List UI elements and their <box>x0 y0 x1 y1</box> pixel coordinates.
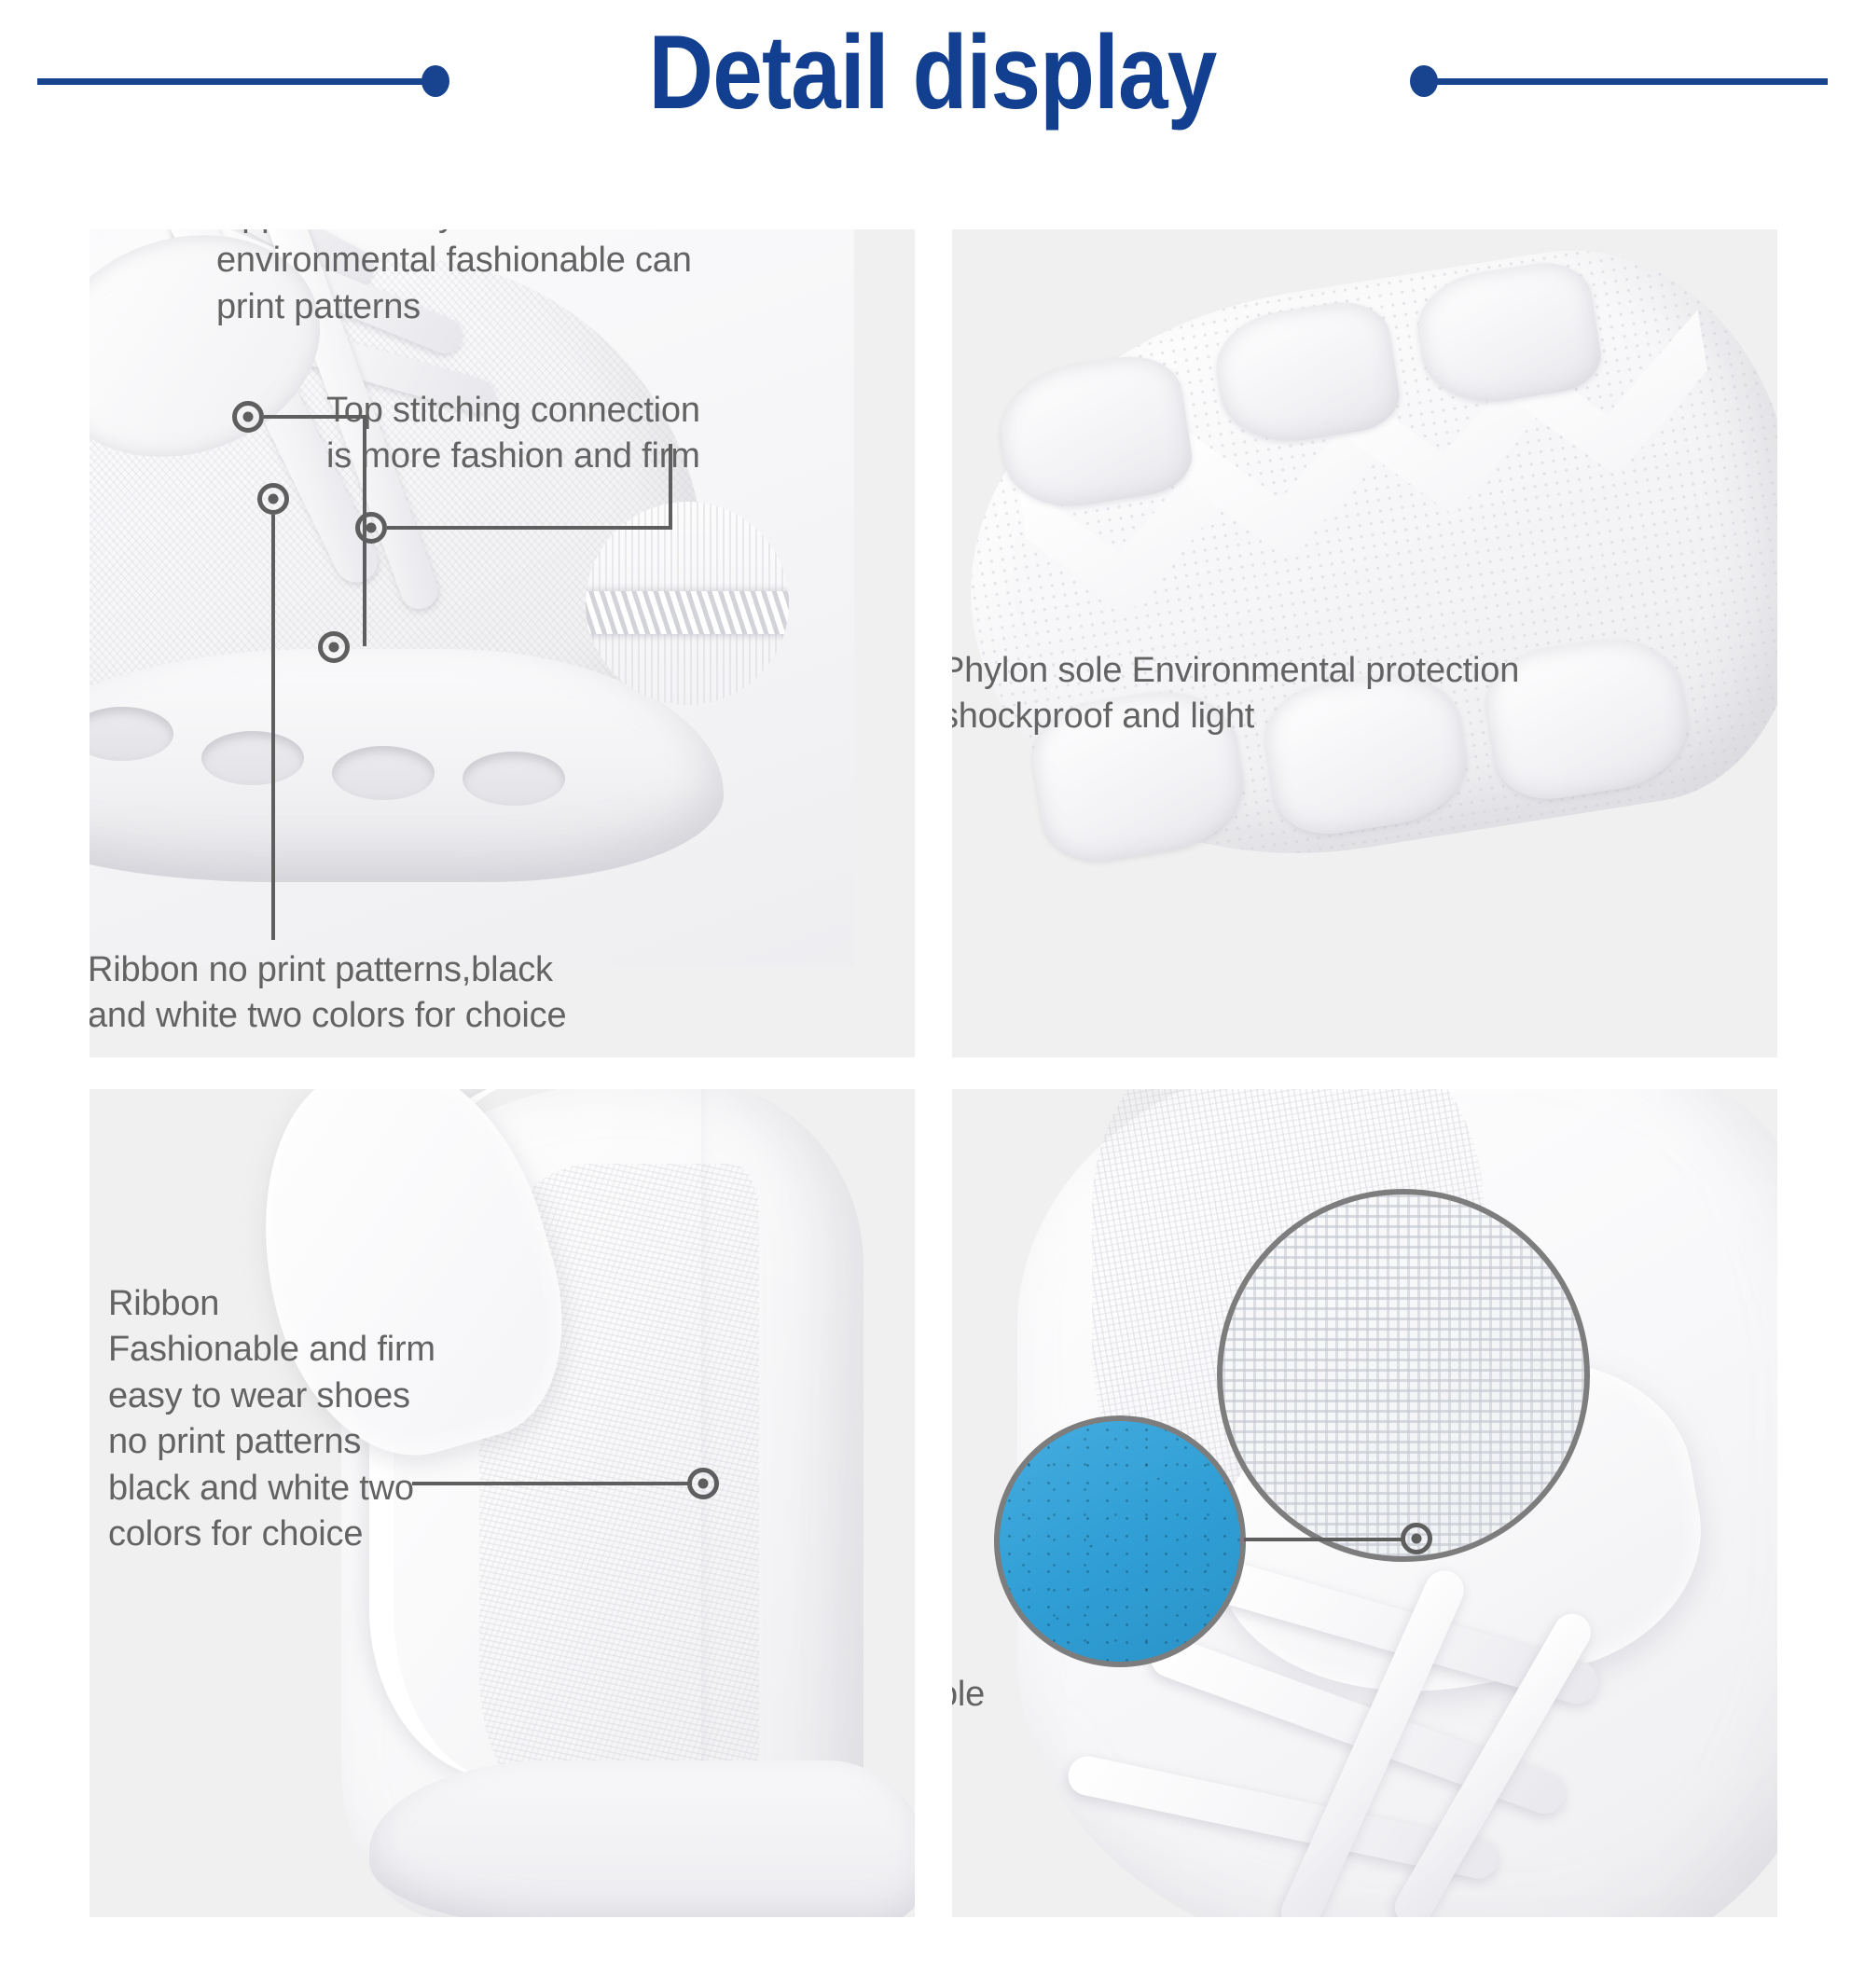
top-stitching-caption: Top stitching connection is more fashion… <box>326 388 765 480</box>
leader-line-stitching-v <box>669 444 672 530</box>
callout-marker-heel-ribbon[interactable] <box>687 1468 719 1499</box>
panel-phylon-sole: Phylon sole Environmental protection sho… <box>952 229 1777 1057</box>
inset-stitching-closeup <box>586 502 789 705</box>
leader-line-stitching-h <box>387 526 672 530</box>
page-title: Detail display <box>131 7 1734 138</box>
ribbon-caption: Ribbon no print patterns,black and white… <box>90 947 647 1040</box>
callout-marker-stitching[interactable] <box>355 512 387 544</box>
leader-line-mesh-h <box>264 415 366 419</box>
other-side-caption: the other side <box>952 1311 1003 1403</box>
ribbon-detail-caption: Ribbon Fashionable and firm easy to wear… <box>108 1281 518 1557</box>
header-rule-right-icon <box>1427 78 1828 85</box>
leader-line-mesh-v <box>363 415 366 646</box>
inset-insole-closeup <box>994 1415 1246 1667</box>
page-header: Detail display <box>0 0 1865 163</box>
leader-line-heel-ribbon <box>412 1482 689 1485</box>
upper-mesh-caption: Upper three layer mesh breathable enviro… <box>216 229 813 330</box>
panel-insole: the other side High poly insole Breathab… <box>952 1089 1777 1917</box>
inset-mesh-closeup <box>1217 1189 1590 1562</box>
leader-line-insole <box>1244 1538 1404 1541</box>
photo-sneaker-upper <box>90 229 915 1057</box>
photo-phylon-outsole <box>952 229 1777 1057</box>
panel-heel-ribbon: Ribbon Fashionable and firm easy to wear… <box>90 1089 915 1917</box>
high-poly-insole-caption: High poly insole Breathable Deodorant <box>952 1672 1129 1810</box>
leader-line-ribbon-v <box>271 515 275 940</box>
callout-marker-insole[interactable] <box>1401 1523 1432 1554</box>
callout-marker-mesh[interactable] <box>232 401 264 433</box>
callout-marker-ribbon[interactable] <box>257 483 289 515</box>
callout-marker-lower[interactable] <box>318 631 350 663</box>
phylon-sole-caption: Phylon sole Environmental protection sho… <box>952 648 1743 740</box>
panel-upper-mesh: Upper three layer mesh breathable enviro… <box>90 229 915 1057</box>
